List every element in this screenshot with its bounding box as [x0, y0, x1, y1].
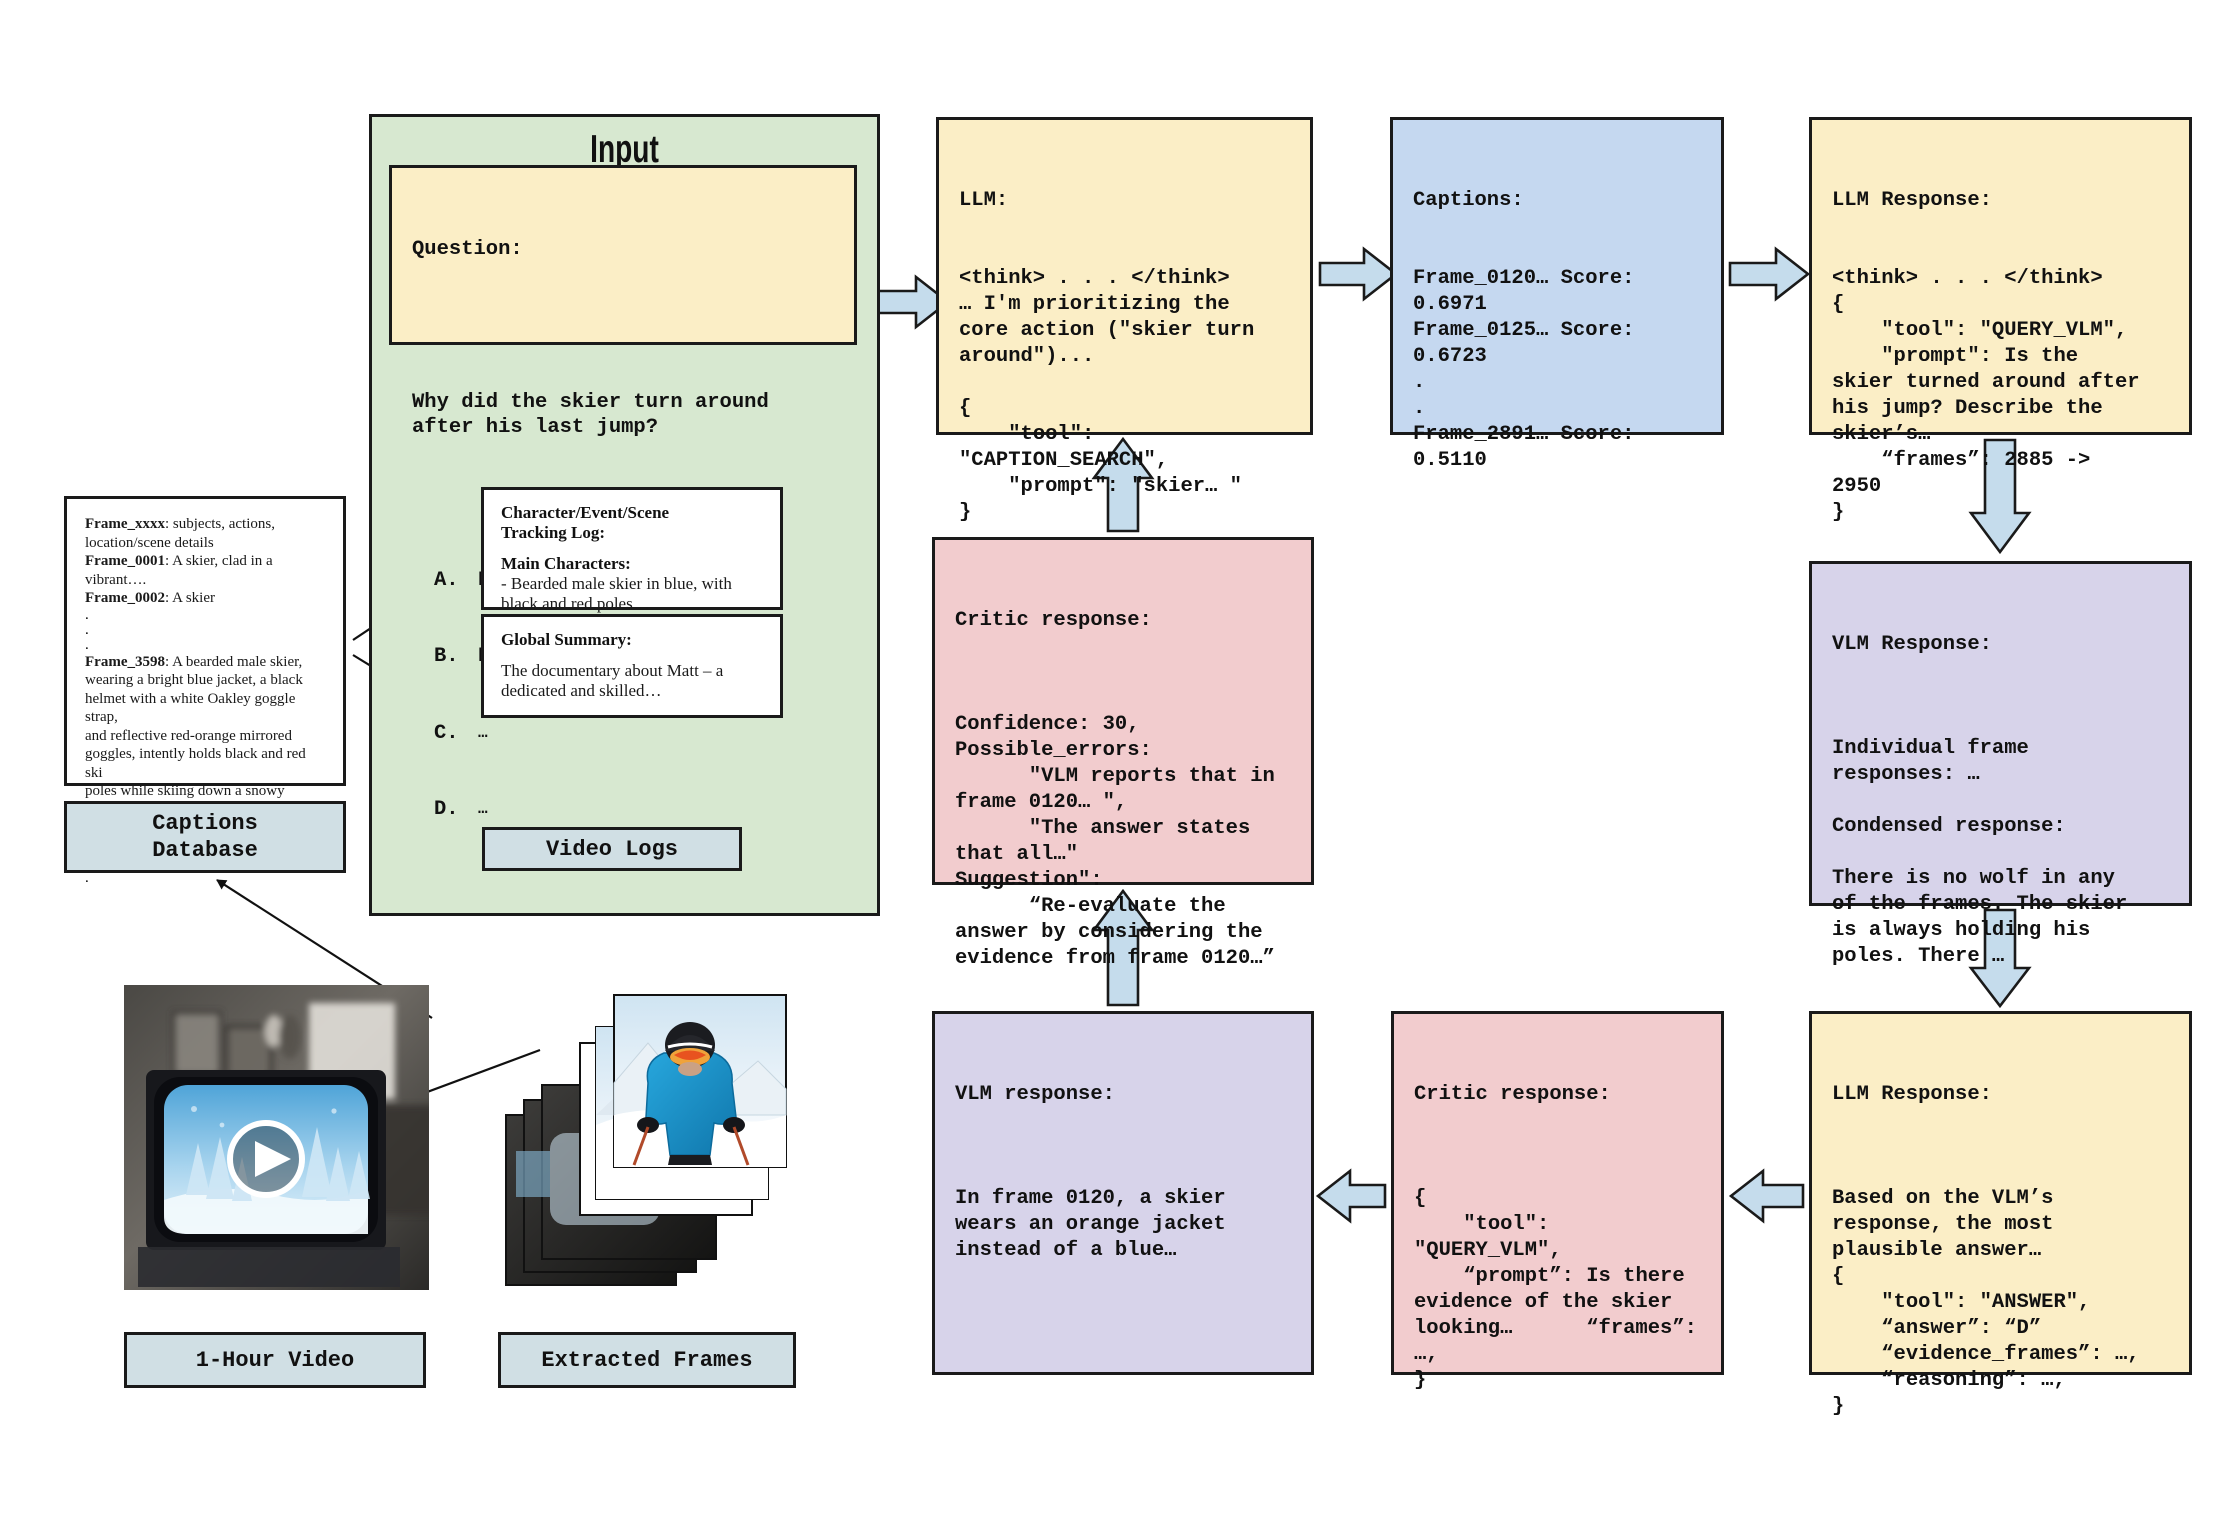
- option-letter-d: D.: [412, 797, 478, 823]
- vlm-response-first-box: VLM Response: Individual frame responses…: [1809, 561, 2192, 906]
- frame-caption-line: helmet with a white Oakley goggle strap,: [85, 690, 325, 727]
- critic-response-first-title: Critic response:: [955, 608, 1291, 634]
- frame-caption-line: .: [85, 871, 325, 886]
- frame-caption-line: .: [85, 638, 325, 653]
- vlm-response-first-title: VLM Response:: [1832, 632, 2169, 658]
- option-text-d: …: [478, 797, 488, 823]
- frame-caption-log-box: Frame_xxxx: subjects, actions,location/s…: [64, 496, 346, 786]
- critic-response-first-box: Critic response: Confidence: 30, Possibl…: [932, 537, 1314, 885]
- extracted-frames-svg: [498, 965, 796, 1295]
- llm-response-answer-box: LLM Response: Based on the VLM’s respons…: [1809, 1011, 2192, 1375]
- tracking-log-section-heading: Main Characters:: [501, 554, 763, 574]
- frame-caption-line: Frame_3598: A bearded male skier,: [85, 653, 325, 672]
- frame-caption-line: goggles, intently holds black and red sk…: [85, 745, 325, 782]
- option-letter-c: C.: [412, 721, 478, 747]
- llm-first-call-body: <think> . . . </think> … I'm prioritizin…: [959, 266, 1290, 526]
- critic-response-first-body: Confidence: 30, Possible_errors: "VLM re…: [955, 686, 1291, 972]
- extracted-frames-label: Extracted Frames: [541, 1347, 752, 1374]
- vlm-response-second-box: VLM response: In frame 0120, a skier wea…: [932, 1011, 1314, 1375]
- extracted-frames-stack[interactable]: [498, 965, 796, 1295]
- global-summary-title: Global Summary:: [501, 630, 763, 650]
- option-letter-b: B.: [412, 644, 478, 670]
- llm-first-call-box: LLM: <think> . . . </think> … I'm priori…: [936, 117, 1313, 435]
- video-thumbnail[interactable]: [124, 985, 429, 1290]
- question-label: Question:: [412, 237, 834, 263]
- captions-database-chip[interactable]: Captions Database: [64, 801, 346, 873]
- frame-caption-line: Frame_0001: A skier, clad in a vibrant….: [85, 552, 325, 589]
- captions-results-title: Captions:: [1413, 188, 1701, 214]
- vlm-response-second-title: VLM response:: [955, 1082, 1291, 1108]
- critic-response-second-title: Critic response:: [1414, 1082, 1701, 1108]
- video-thumbnail-svg: [124, 985, 429, 1290]
- frame-caption-line: Frame_xxxx: subjects, actions,: [85, 515, 325, 534]
- frame-caption-line: and reflective red-orange mirrored: [85, 727, 325, 746]
- captions-database-label: Captions Database: [152, 810, 258, 864]
- llm-first-call-title: LLM:: [959, 188, 1290, 214]
- video-logs-chip-label: Video Logs: [546, 836, 678, 863]
- arrow-critic2-to-vlmresp2: [1318, 1171, 1385, 1221]
- critic-response-second-body: { "tool": "QUERY_VLM", “prompt”: Is ther…: [1414, 1160, 1701, 1394]
- vlm-response-first-body: Individual frame responses: … Condensed …: [1832, 710, 2169, 970]
- option-letter-a: A.: [412, 568, 478, 594]
- tracking-log-title: Character/Event/Scene Tracking Log:: [501, 503, 763, 543]
- captions-results-box: Captions: Frame_0120… Score: 0.6971 Fram…: [1390, 117, 1724, 435]
- one-hour-video-chip[interactable]: 1-Hour Video: [124, 1332, 426, 1388]
- question-box: Question: Why did the skier turn around …: [389, 165, 857, 345]
- option-row-c: C. …: [412, 721, 834, 747]
- one-hour-video-label: 1-Hour Video: [196, 1347, 354, 1374]
- frame-caption-line: Frame_0002: A skier: [85, 589, 325, 608]
- global-summary-box: Global Summary: The documentary about Ma…: [481, 614, 783, 718]
- frame-caption-line: .: [85, 623, 325, 638]
- frame-caption-line: .: [85, 608, 325, 623]
- arrow-captions-to-llmresp1: [1730, 249, 1808, 299]
- extracted-frames-chip[interactable]: Extracted Frames: [498, 1332, 796, 1388]
- captions-results-body: Frame_0120… Score: 0.6971 Frame_0125… Sc…: [1413, 266, 1701, 474]
- option-row-d: D. …: [412, 797, 834, 823]
- llm-response-first-title: LLM Response:: [1832, 188, 2169, 214]
- diagram-canvas: Input Question: Why did the skier turn a…: [0, 0, 2239, 1523]
- frame-caption-line: wearing a bright blue jacket, a black: [85, 671, 325, 690]
- critic-response-second-box: Critic response: { "tool": "QUERY_VLM", …: [1391, 1011, 1724, 1375]
- llm-response-first-body: <think> . . . </think> { "tool": "QUERY_…: [1832, 266, 2169, 526]
- llm-response-answer-body: Based on the VLM’s response, the most pl…: [1832, 1160, 2169, 1420]
- llm-response-answer-title: LLM Response:: [1832, 1082, 2169, 1108]
- global-summary-body: The documentary about Matt – a dedicated…: [501, 661, 763, 701]
- video-logs-chip[interactable]: Video Logs: [482, 827, 742, 871]
- vlm-response-second-body: In frame 0120, a skier wears an orange j…: [955, 1160, 1291, 1264]
- tracking-log-box: Character/Event/Scene Tracking Log: Main…: [481, 487, 783, 610]
- option-text-c: …: [478, 721, 488, 747]
- arrow-llm1-to-captions: [1320, 249, 1396, 299]
- frame-caption-line: location/scene details: [85, 534, 325, 553]
- llm-response-first-box: LLM Response: <think> . . . </think> { "…: [1809, 117, 2192, 435]
- arrow-llmresp2-to-critic2: [1731, 1171, 1803, 1221]
- question-text: Why did the skier turn around after his …: [412, 390, 834, 441]
